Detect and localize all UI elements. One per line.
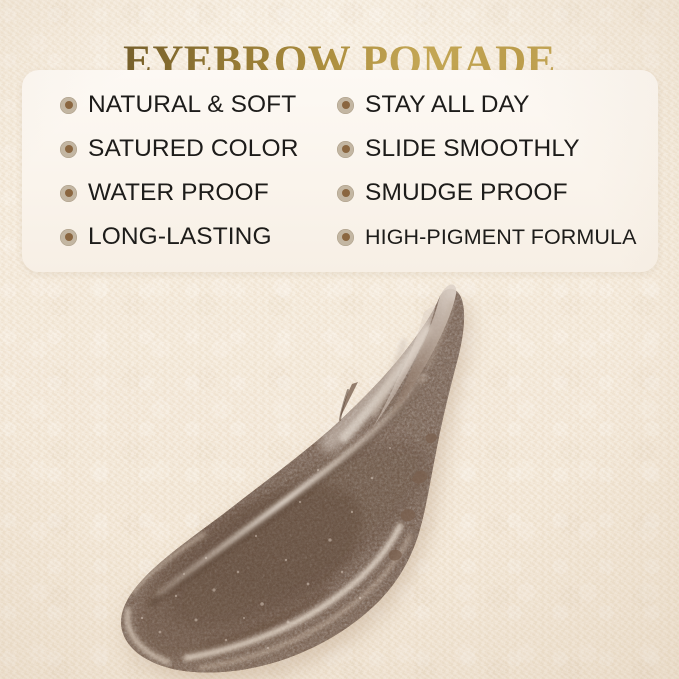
feature-item-stay-all-day: STAY ALL DAY bbox=[337, 84, 658, 126]
feature-item-slide-smoothly: SLIDE SMOOTHLY bbox=[337, 128, 658, 170]
bullet-dot-icon bbox=[337, 97, 354, 114]
bullet-dot-icon bbox=[60, 185, 77, 202]
feature-column-left: NATURAL & SOFT SATURED COLOR WATER PROOF… bbox=[22, 83, 314, 259]
feature-item-water-proof: WATER PROOF bbox=[60, 172, 314, 214]
bullet-dot-icon bbox=[60, 97, 77, 114]
feature-card: NATURAL & SOFT SATURED COLOR WATER PROOF… bbox=[22, 70, 658, 272]
feature-label: SMUDGE PROOF bbox=[365, 179, 568, 207]
pomade-swatch bbox=[0, 272, 679, 679]
feature-label: WATER PROOF bbox=[88, 179, 269, 207]
feature-label: LONG-LASTING bbox=[88, 223, 272, 251]
feature-column-right: STAY ALL DAY SLIDE SMOOTHLY SMUDGE PROOF… bbox=[314, 83, 658, 259]
pomade-swatch-graphic bbox=[0, 272, 679, 679]
feature-label: STAY ALL DAY bbox=[365, 91, 530, 119]
feature-columns: NATURAL & SOFT SATURED COLOR WATER PROOF… bbox=[22, 70, 658, 272]
bullet-dot-icon bbox=[337, 229, 354, 246]
feature-label: NATURAL & SOFT bbox=[88, 91, 296, 119]
bullet-dot-icon bbox=[60, 229, 77, 246]
feature-item-natural-soft: NATURAL & SOFT bbox=[60, 84, 314, 126]
feature-item-high-pigment-formula: HIGH-PIGMENT FORMULA bbox=[337, 216, 658, 258]
feature-item-smudge-proof: SMUDGE PROOF bbox=[337, 172, 658, 214]
bullet-dot-icon bbox=[60, 141, 77, 158]
feature-label: SLIDE SMOOTHLY bbox=[365, 135, 580, 163]
feature-label: HIGH-PIGMENT FORMULA bbox=[365, 225, 637, 250]
feature-item-satured-color: SATURED COLOR bbox=[60, 128, 314, 170]
feature-label: SATURED COLOR bbox=[88, 135, 298, 163]
product-marketing-image: EYEBROW POMADE NATURAL & SOFT SATURED CO… bbox=[0, 0, 679, 679]
bullet-dot-icon bbox=[337, 141, 354, 158]
bullet-dot-icon bbox=[337, 185, 354, 202]
swatch-body bbox=[0, 272, 679, 679]
feature-item-long-lasting: LONG-LASTING bbox=[60, 216, 314, 258]
